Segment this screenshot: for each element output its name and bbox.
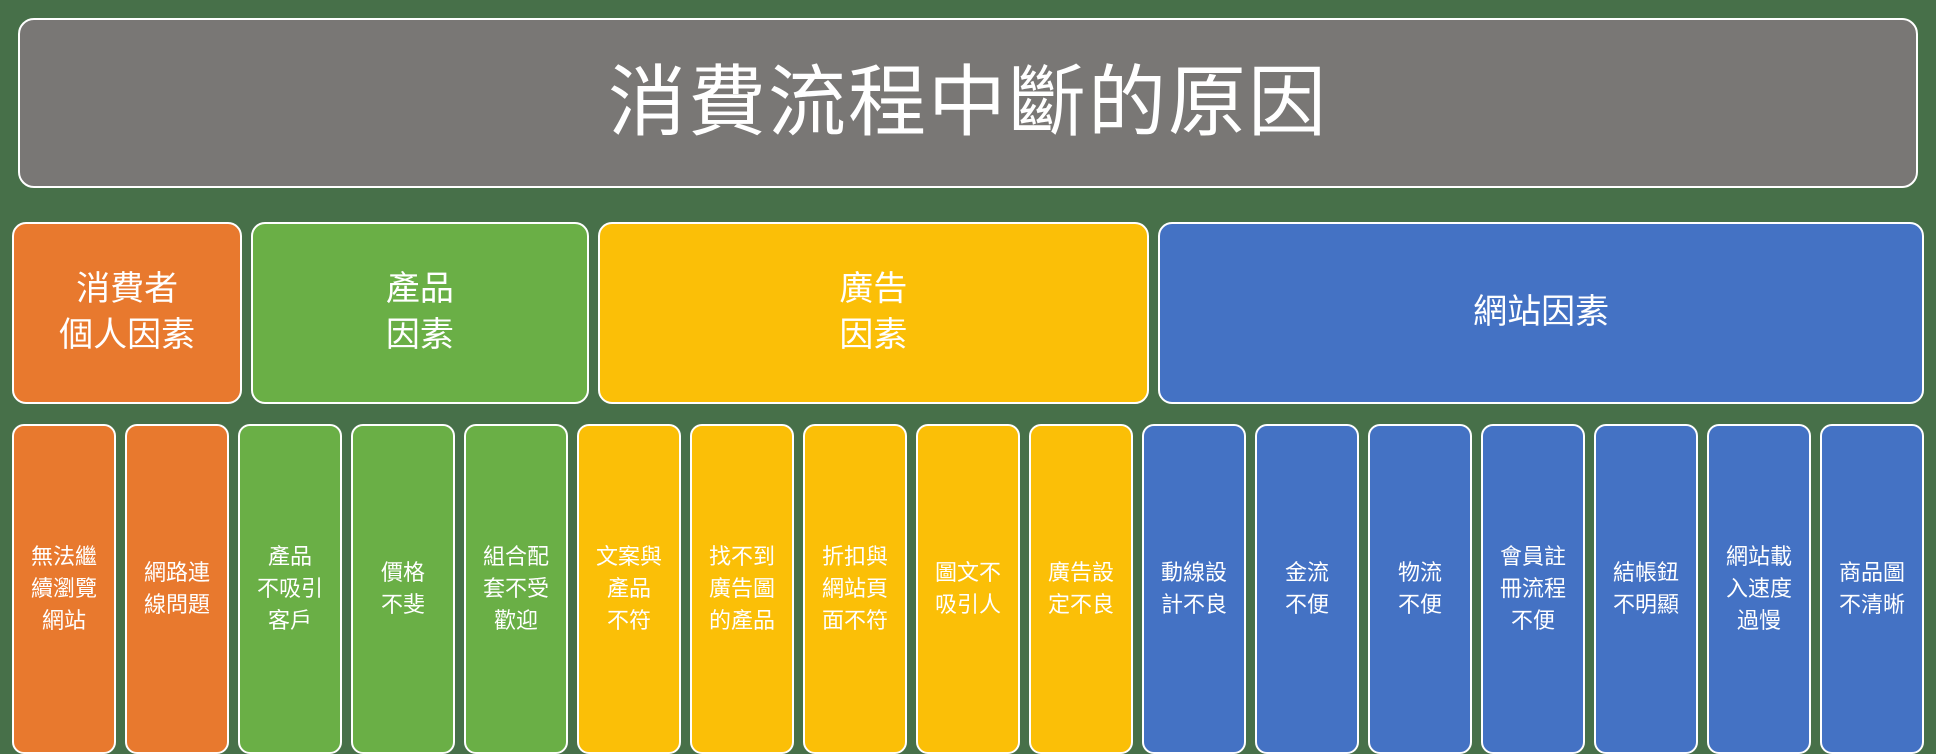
category-label: 產品 因素 xyxy=(386,267,454,359)
leaf-label: 價格 不斐 xyxy=(381,557,425,621)
leaf-row: 無法繼 續瀏覽 網站網路連 線問題產品 不吸引 客戶價格 不斐組合配 套不受 歡… xyxy=(12,424,1924,754)
leaf-label: 組合配 套不受 歡迎 xyxy=(483,541,549,637)
leaf-box[interactable]: 產品 不吸引 客戶 xyxy=(238,424,342,754)
leaf-label: 折扣與 網站頁 面不符 xyxy=(822,541,888,637)
leaf-label: 網站載 入速度 過慢 xyxy=(1726,541,1792,637)
page-title: 消費流程中斷的原因 xyxy=(608,62,1328,144)
leaf-label: 產品 不吸引 客戶 xyxy=(257,541,323,637)
leaf-label: 動線設 計不良 xyxy=(1161,557,1227,621)
category-label: 網站因素 xyxy=(1473,290,1609,336)
leaf-box[interactable]: 折扣與 網站頁 面不符 xyxy=(803,424,907,754)
category-row: 消費者 個人因素產品 因素廣告 因素網站因素 xyxy=(12,222,1924,404)
leaf-box[interactable]: 組合配 套不受 歡迎 xyxy=(464,424,568,754)
leaf-label: 結帳鈕 不明顯 xyxy=(1613,557,1679,621)
category-label: 消費者 個人因素 xyxy=(59,267,195,359)
leaf-label: 廣告設 定不良 xyxy=(1048,557,1114,621)
title-box: 消費流程中斷的原因 xyxy=(18,18,1918,188)
leaf-box[interactable]: 商品圖 不清晰 xyxy=(1820,424,1924,754)
leaf-box[interactable]: 找不到 廣告圖 的產品 xyxy=(690,424,794,754)
leaf-box[interactable]: 動線設 計不良 xyxy=(1142,424,1246,754)
leaf-box[interactable]: 無法繼 續瀏覽 網站 xyxy=(12,424,116,754)
leaf-box[interactable]: 結帳鈕 不明顯 xyxy=(1594,424,1698,754)
category-box[interactable]: 產品 因素 xyxy=(251,222,588,404)
leaf-label: 商品圖 不清晰 xyxy=(1839,557,1905,621)
leaf-label: 文案與 產品 不符 xyxy=(596,541,662,637)
leaf-label: 金流 不便 xyxy=(1285,557,1329,621)
leaf-label: 圖文不 吸引人 xyxy=(935,557,1001,621)
leaf-box[interactable]: 圖文不 吸引人 xyxy=(916,424,1020,754)
leaf-box[interactable]: 價格 不斐 xyxy=(351,424,455,754)
leaf-box[interactable]: 會員註 冊流程 不便 xyxy=(1481,424,1585,754)
leaf-label: 找不到 廣告圖 的產品 xyxy=(709,541,775,637)
leaf-label: 物流 不便 xyxy=(1398,557,1442,621)
category-box[interactable]: 網站因素 xyxy=(1158,222,1924,404)
leaf-box[interactable]: 文案與 產品 不符 xyxy=(577,424,681,754)
leaf-box[interactable]: 物流 不便 xyxy=(1368,424,1472,754)
category-box[interactable]: 消費者 個人因素 xyxy=(12,222,242,404)
category-box[interactable]: 廣告 因素 xyxy=(598,222,1150,404)
leaf-box[interactable]: 網路連 線問題 xyxy=(125,424,229,754)
leaf-box[interactable]: 網站載 入速度 過慢 xyxy=(1707,424,1811,754)
mind-map-canvas: 消費流程中斷的原因 消費者 個人因素產品 因素廣告 因素網站因素 無法繼 續瀏覽… xyxy=(0,0,1936,754)
leaf-box[interactable]: 金流 不便 xyxy=(1255,424,1359,754)
leaf-label: 網路連 線問題 xyxy=(144,557,210,621)
category-label: 廣告 因素 xyxy=(839,267,907,359)
leaf-label: 會員註 冊流程 不便 xyxy=(1500,541,1566,637)
leaf-box[interactable]: 廣告設 定不良 xyxy=(1029,424,1133,754)
leaf-label: 無法繼 續瀏覽 網站 xyxy=(31,541,97,637)
